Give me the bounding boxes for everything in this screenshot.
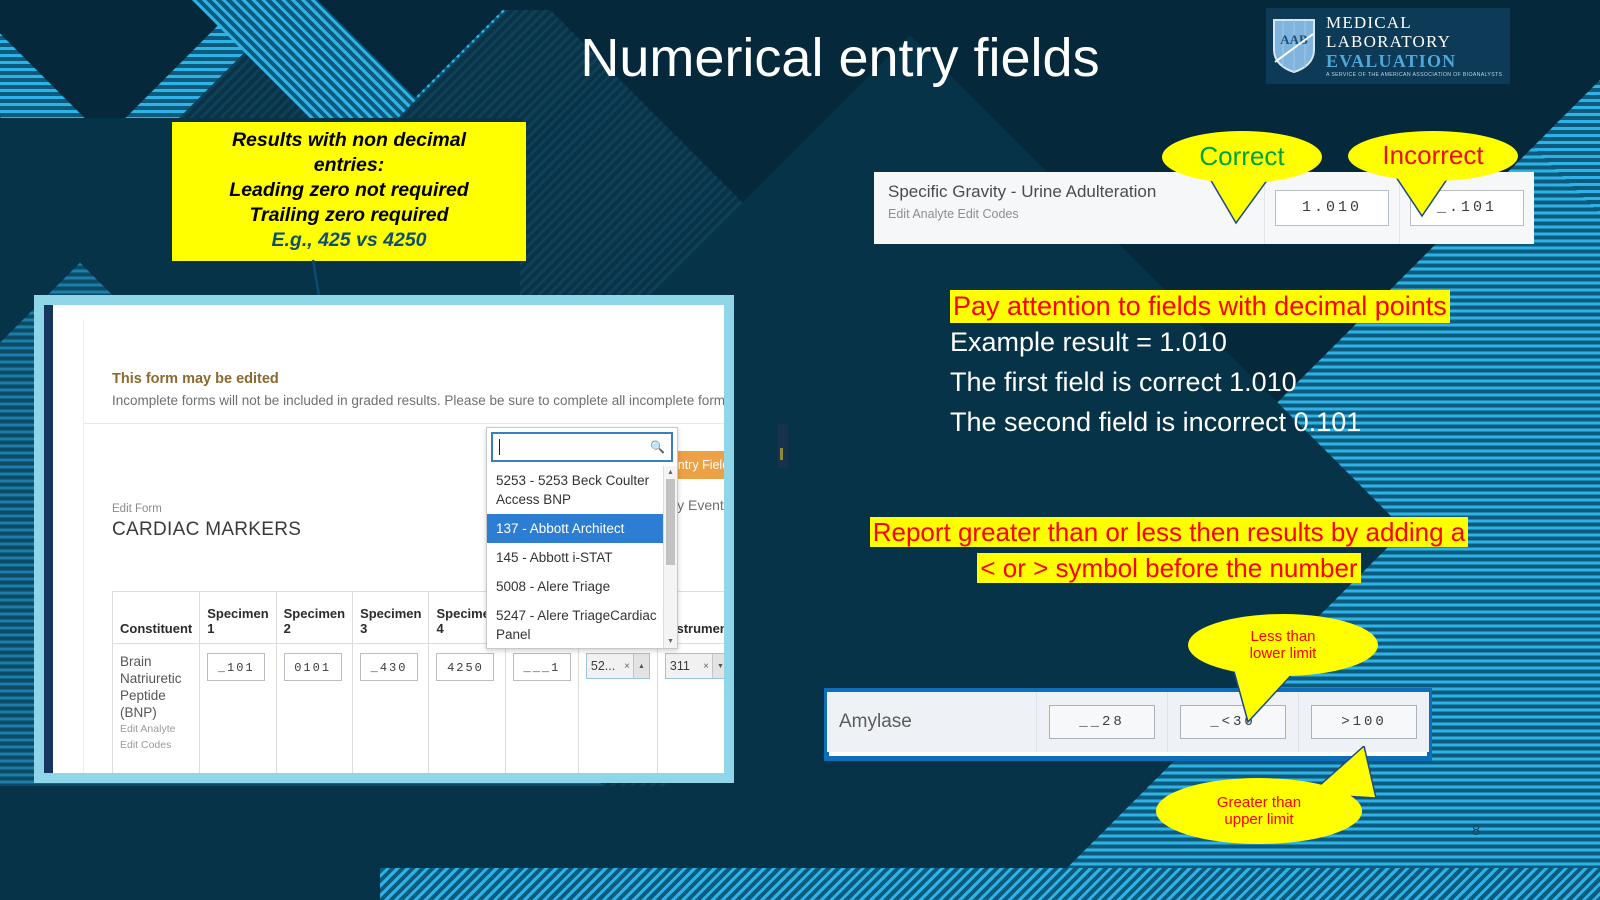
method-combobox-clear-icon[interactable]: × [621,658,633,675]
form-page: This form may be edited Incomplete forms… [83,319,724,773]
chevron-down-icon[interactable]: ▼ [712,654,724,678]
cell-specimen-4: 4250 [429,644,505,774]
dropdown-item-4[interactable]: 5247 - Alere TriageCardiac Panel [487,601,677,648]
instrument-combobox-value: 311 [666,658,700,675]
instrument-combobox-clear-icon[interactable]: × [700,658,712,675]
th-specimen-1: Specimen 1 [200,592,276,644]
specimen-5-input[interactable]: ___1 [513,653,571,681]
scroll-down-icon[interactable]: ▼ [664,635,677,648]
scrollbar-thumb[interactable] [666,479,675,565]
less-than-callout-text: Less than lower limit [1250,628,1317,663]
correct-callout: Correct [1162,131,1322,183]
amylase-name: Amylase [827,692,1037,752]
edit-analyte-link[interactable]: Edit Analyte [120,721,192,737]
edit-form-label[interactable]: Edit Form [112,503,162,515]
note-line-4: Trailing zero required [180,203,518,228]
instrument-combobox[interactable]: 311 × ▼ [665,653,724,679]
slide-root: Numerical entry fields AAB MEDICAL LABOR… [0,0,1600,900]
th-specimen-3: Specimen 3 [353,592,429,644]
logo-line-1: MEDICAL [1326,14,1502,31]
dropdown-item-0[interactable]: 5253 - 5253 Beck Coulter Access BNP [487,466,677,514]
logo-tagline: A SERVICE OF THE AMERICAN ASSOCIATION OF… [1326,73,1502,78]
cell-specimen-2: 0101 [276,644,352,774]
specimen-3-input[interactable]: _430 [360,653,418,681]
method-combobox[interactable]: 52... × ▲ [586,653,650,679]
note-line-1: Results with non decimal [180,128,518,153]
table-row: Brain Natriuretic Peptide (BNP) Edit Ana… [113,644,725,774]
amylase-row: Amylase __28 _<30 >100 [827,692,1429,752]
specimen-4-input[interactable]: 4250 [436,653,494,681]
symbol-note-line-1: Report greater than or less then results… [870,517,1469,547]
aab-shield-icon: AAB [1272,18,1316,74]
symbol-note-block: Report greater than or less then results… [824,514,1514,586]
logo-line-3: EVALUATION [1326,52,1502,70]
dropdown-scrollbar[interactable]: ▲ ▼ [663,466,677,648]
cell-specimen-3: _430 [353,644,429,774]
cell-specimen-5: ___1 [505,644,578,774]
cell-instrument-combo: 311 × ▼ [657,644,724,774]
symbol-note-line-2: < or > symbol before the number [977,553,1360,583]
explanation-line-3: The second field is incorrect 0.101 [950,406,1361,439]
form-screenshot-frame: This form may be edited Incomplete forms… [34,295,734,783]
cell-constituent: Brain Natriuretic Peptide (BNP) Edit Ana… [113,644,200,774]
page-number: 8 [1472,822,1480,839]
greater-than-callout-text: Greater than upper limit [1217,794,1301,829]
greater-than-callout: Greater than upper limit [1156,778,1362,844]
less-than-callout: Less than lower limit [1188,614,1378,676]
specimen-2-input[interactable]: 0101 [284,653,342,681]
chevron-up-icon[interactable]: ▲ [633,654,649,678]
constituent-name: Brain Natriuretic Peptide (BNP) [120,653,192,721]
logo-text: MEDICAL LABORATORY EVALUATION A SERVICE … [1326,14,1502,78]
form-divider [84,423,724,424]
page-title: Numerical entry fields [520,28,1160,88]
background-bottom-strip-mask [0,868,380,900]
text-caret [499,439,500,455]
decorative-tick-mark [778,424,788,468]
note-line-3: Leading zero not required [180,178,518,203]
greater-than-line-1: Greater than [1217,794,1301,811]
method-combobox-value: 52... [587,658,621,675]
logo-line-2: LABORATORY [1326,33,1502,50]
logo: AAB MEDICAL LABORATORY EVALUATION A SERV… [1266,8,1510,84]
search-icon[interactable]: 🔍 [650,440,665,454]
dropdown-item-2[interactable]: 145 - Abbott i-STAT [487,543,677,572]
dropdown-search-input[interactable]: 🔍 [491,432,673,462]
greater-than-line-2: upper limit [1217,811,1301,828]
dropdown-list[interactable]: 5253 - 5253 Beck Coulter Access BNP 137 … [487,466,677,648]
symbol-note-line-2-wrap: < or > symbol before the number [824,550,1514,586]
dropdown-item-3[interactable]: 5008 - Alere Triage [487,572,677,601]
form-banner-title: This form may be edited [112,371,279,387]
less-than-line-1: Less than [1250,628,1317,645]
cell-specimen-1: _101 [200,644,276,774]
specimen-1-input[interactable]: _101 [207,653,265,681]
explanation-line-1: Example result = 1.010 [950,326,1227,359]
symbol-note-line-1-wrap: Report greater than or less then results… [824,514,1514,550]
less-than-line-2: lower limit [1250,645,1317,662]
note-line-2: entries: [180,153,518,178]
explanation-highlight: Pay attention to fields with decimal poi… [950,290,1450,323]
explanation-line-2: The first field is correct 1.010 [950,366,1297,399]
method-dropdown[interactable]: 🔍 5253 - 5253 Beck Coulter Access BNP 13… [486,427,678,649]
form-screenshot-inner: This form may be edited Incomplete forms… [44,305,724,773]
form-banner-subtitle: Incomplete forms will not be included in… [112,393,724,408]
th-constituent: Constituent [113,592,200,644]
decorative-tick-highlight [780,448,783,460]
note-line-5: E.g., 425 vs 4250 [180,228,518,253]
form-name: CARDIAC MARKERS [112,519,301,541]
edit-codes-link[interactable]: Edit Codes [120,737,192,753]
cell-method-combo: 52... × ▲ [578,644,657,774]
scroll-up-icon[interactable]: ▲ [664,466,677,479]
dropdown-item-1[interactable]: 137 - Abbott Architect [487,514,677,543]
amylase-input-1[interactable]: __28 [1049,705,1155,739]
incorrect-callout: Incorrect [1348,131,1518,181]
amylase-cell-1: __28 [1037,692,1168,752]
note-callout-box: Results with non decimal entries: Leadin… [172,122,526,261]
th-specimen-2: Specimen 2 [276,592,352,644]
